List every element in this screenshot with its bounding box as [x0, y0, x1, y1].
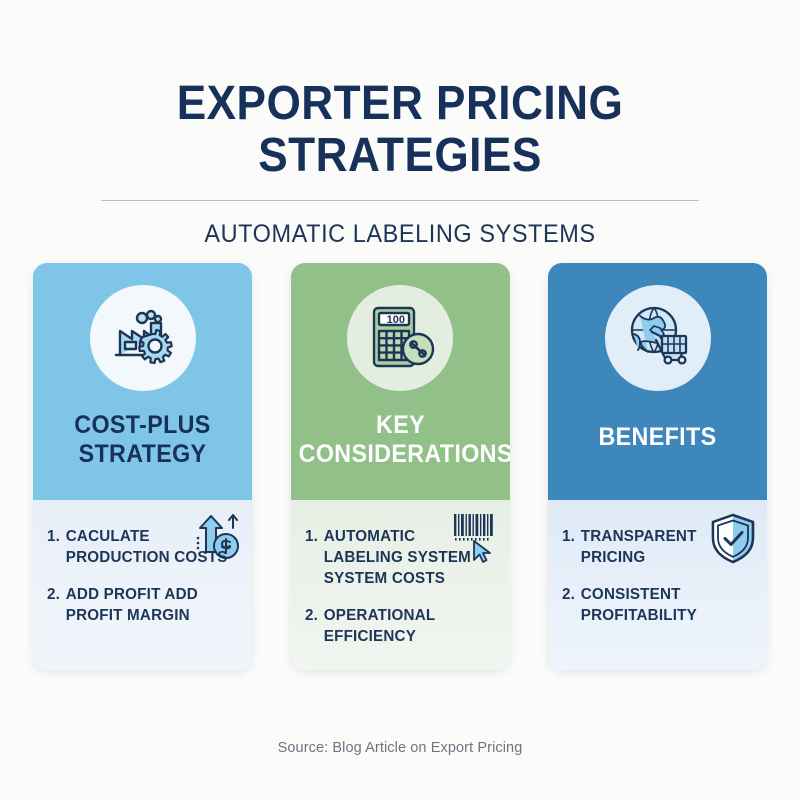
- card-body: 1. AUTOMATIC LABELING SYSTEM SYSTEM COST…: [291, 500, 510, 670]
- card-body: 1. TRANSPARENT PRICING 2. CONSISTENT PRO…: [548, 500, 767, 670]
- list-item-label: CACULATE PRODUCTION COSTS: [66, 526, 229, 568]
- icon-circle: 100: [347, 285, 453, 391]
- card-body: 1. CACULATE PRODUCTION COSTS 2. ADD PROF…: [33, 500, 252, 670]
- list-item-label: OPERATIONAL EFFICIENCY: [323, 605, 486, 647]
- calculator-percent-icon: 100: [362, 300, 438, 376]
- list-item: 1. CACULATE PRODUCTION COSTS: [47, 526, 228, 568]
- strategy-cards-row: COST-PLUS STRATEGY: [33, 263, 767, 670]
- card-header: COST-PLUS STRATEGY: [33, 263, 252, 500]
- infographic-header: EXPORTER PRICING STRATEGIES AUTOMATIC LA…: [0, 0, 800, 249]
- list-item-number: 2.: [47, 584, 66, 626]
- card-title-line1: COST-PLUS: [41, 411, 245, 440]
- list-item-number: 1.: [562, 526, 581, 568]
- list-item: 1. AUTOMATIC LABELING SYSTEM SYSTEM COST…: [305, 526, 486, 589]
- card-benefits[interactable]: BENEFITS 1. TRANSPARENT PRICING 2. CONSI…: [548, 263, 767, 670]
- list-item: 2. ADD PROFIT ADD PROFIT MARGIN: [47, 584, 228, 626]
- globe-cart-icon: [620, 300, 696, 376]
- card-title: KEY CONSIDERATIONS: [298, 411, 502, 469]
- list-item: 1. TRANSPARENT PRICING: [562, 526, 743, 568]
- card-title-line2: STRATEGY: [41, 440, 245, 469]
- card-title: BENEFITS: [556, 423, 760, 452]
- card-header: BENEFITS: [548, 263, 767, 500]
- list-item-number: 1.: [47, 526, 66, 568]
- list-item-label: AUTOMATIC LABELING SYSTEM SYSTEM COSTS: [323, 526, 486, 589]
- list-item: 2. OPERATIONAL EFFICIENCY: [305, 605, 486, 647]
- card-header: 100 KEY CONSIDERATIONS: [291, 263, 510, 500]
- list-item-label: TRANSPARENT PRICING: [581, 526, 744, 568]
- card-title-line1: BENEFITS: [556, 423, 760, 452]
- card-title-line2: CONSIDERATIONS: [298, 440, 502, 469]
- page-subtitle: AUTOMATIC LABELING SYSTEMS: [24, 201, 776, 249]
- card-title-line1: KEY: [298, 411, 502, 440]
- card-cost-plus-strategy[interactable]: COST-PLUS STRATEGY: [33, 263, 252, 670]
- factory-gear-icon: [106, 301, 180, 375]
- list-item-number: 1.: [305, 526, 324, 589]
- page-title: EXPORTER PRICING STRATEGIES: [32, 0, 768, 182]
- list-item: 2. CONSISTENT PROFITABILITY: [562, 584, 743, 626]
- icon-circle: [605, 285, 711, 391]
- card-title: COST-PLUS STRATEGY: [41, 411, 245, 469]
- card-key-considerations[interactable]: 100 KEY CONSIDERATIONS: [291, 263, 510, 670]
- icon-circle: [90, 285, 196, 391]
- list-item-label: ADD PROFIT ADD PROFIT MARGIN: [66, 584, 229, 626]
- calculator-display-value: 100: [387, 314, 405, 326]
- list-item-number: 2.: [305, 605, 324, 647]
- list-item-number: 2.: [562, 584, 581, 626]
- source-caption: Source: Blog Article on Export Pricing: [0, 740, 800, 756]
- list-item-label: CONSISTENT PROFITABILITY: [581, 584, 744, 626]
